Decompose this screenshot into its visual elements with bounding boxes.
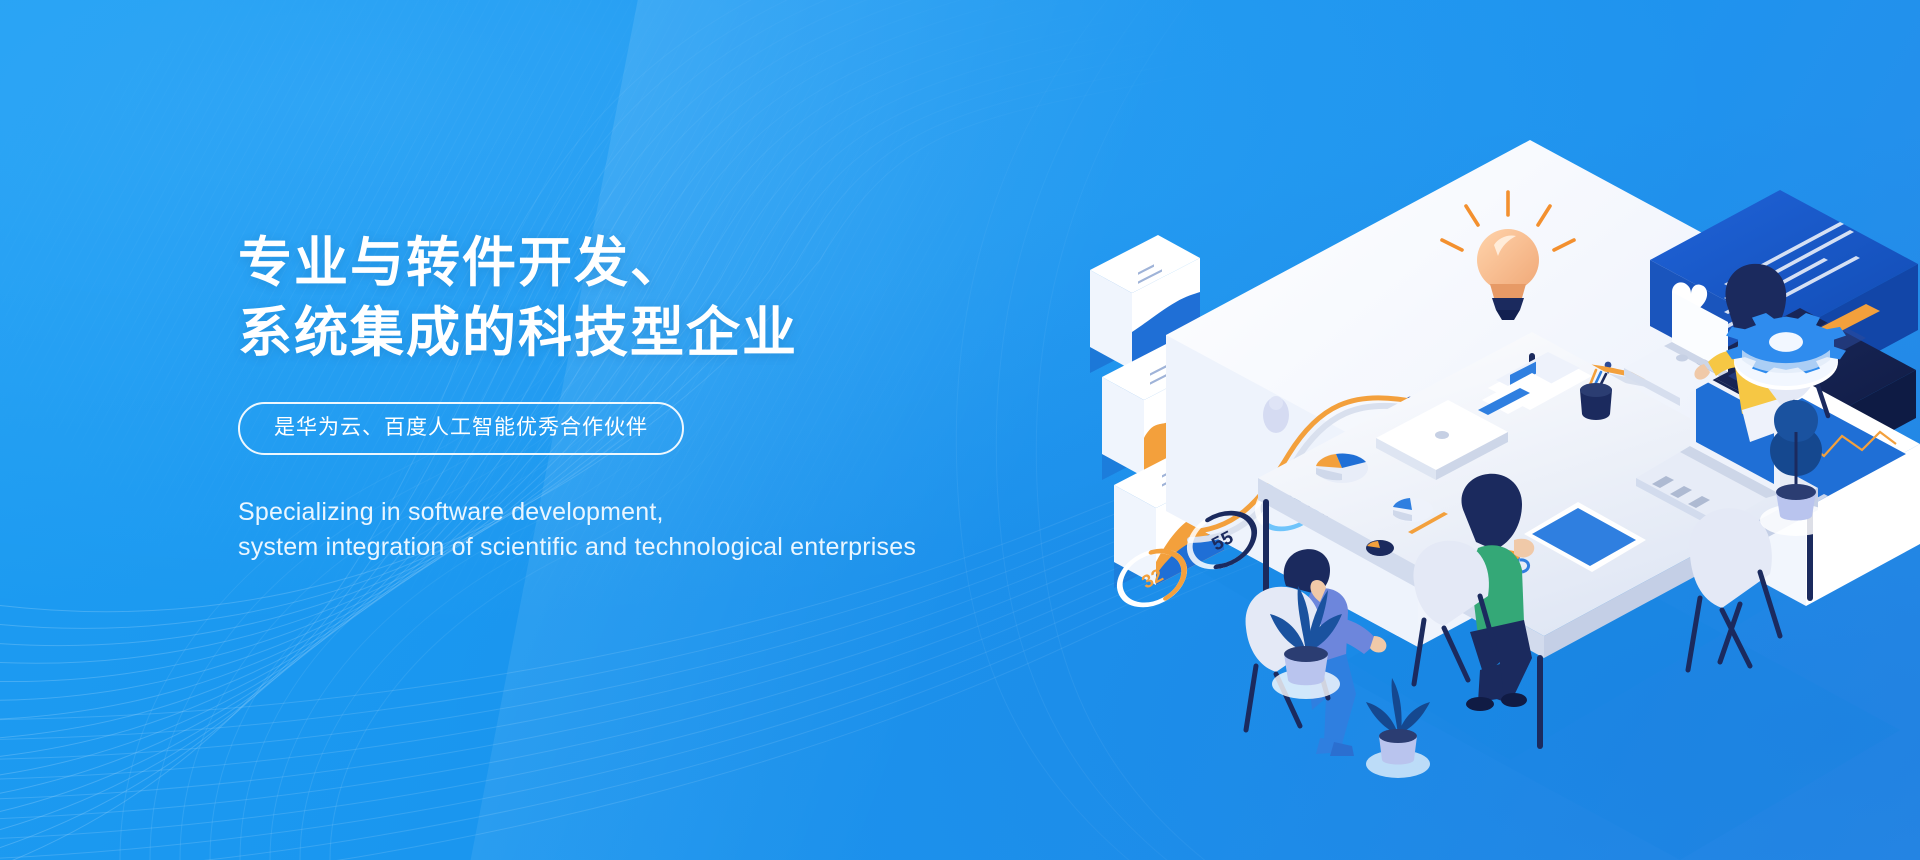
partner-badge: 是华为云、百度人工智能优秀合作伙伴 — [238, 402, 684, 455]
small-pie-prop — [1391, 498, 1433, 522]
page-title: 专业与转件开发、 系统集成的科技型企业 — [238, 228, 1138, 368]
hero-copy: 专业与转件开发、 系统集成的科技型企业 是华为云、百度人工智能优秀合作伙伴 Sp… — [238, 228, 1138, 564]
hero-subtitle: Specializing in software development, sy… — [238, 495, 1138, 564]
dark-pie-prop — [1366, 540, 1394, 556]
hero-illustration: 65 123 97 81 — [1080, 70, 1920, 770]
headline-line-2: 系统集成的科技型企业 — [238, 298, 1138, 368]
subtitle-line-1: Specializing in software development, — [238, 495, 1138, 530]
hero-banner: 专业与转件开发、 系统集成的科技型企业 是华为云、百度人工智能优秀合作伙伴 Sp… — [0, 0, 1920, 860]
pie-chart-prop — [1316, 453, 1368, 483]
subtitle-line-2: system integration of scientific and tec… — [238, 530, 1138, 565]
headline-line-1: 专业与转件开发、 — [238, 228, 1138, 298]
